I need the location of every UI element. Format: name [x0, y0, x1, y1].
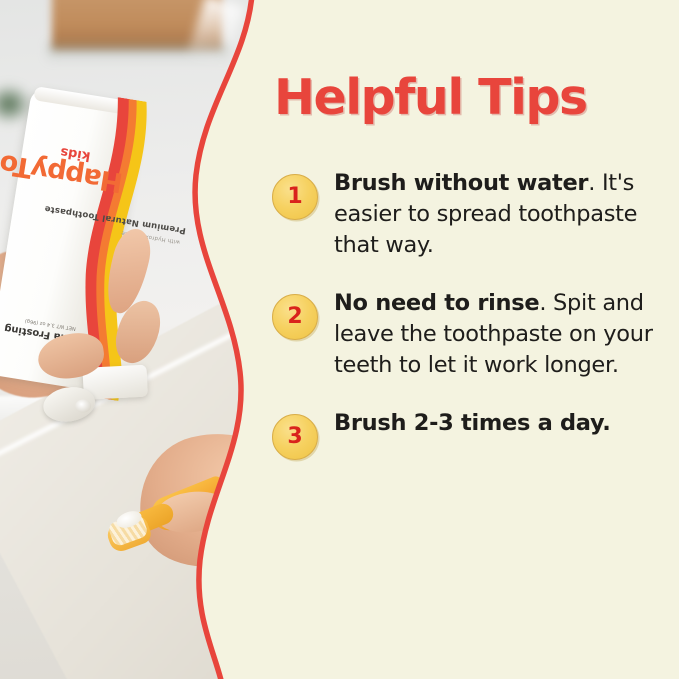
tips-panel: Helpful Tips 1 Brush without water. It's… — [272, 0, 672, 679]
tip-text-3: Brush 2-3 times a day. — [334, 405, 664, 439]
list-item: 2 No need to rinse. Spit and leave the t… — [272, 285, 664, 381]
list-item: 3 Brush 2-3 times a day. — [272, 405, 664, 460]
tip-number: 3 — [287, 426, 302, 449]
tip-number: 2 — [287, 306, 302, 329]
tip-badge-2: 2 — [272, 294, 318, 340]
tip-text-2: No need to rinse. Spit and leave the too… — [334, 285, 664, 381]
tip-number: 1 — [287, 186, 302, 209]
product-photo: HappyTooth kids Premium Natural Toothpas… — [0, 0, 300, 679]
tip-badge-3: 3 — [272, 414, 318, 460]
tip-bold-lead: Brush 2-3 times a day. — [334, 410, 611, 436]
tip-text-1: Brush without water. It's easier to spre… — [334, 165, 664, 261]
tip-bold-lead: Brush without water — [334, 170, 588, 196]
tip-badge-1: 1 — [272, 174, 318, 220]
infographic-root: HappyTooth kids Premium Natural Toothpas… — [0, 0, 679, 679]
tip-bold-lead: No need to rinse — [334, 290, 539, 316]
list-item: 1 Brush without water. It's easier to sp… — [272, 165, 664, 261]
tips-list: 1 Brush without water. It's easier to sp… — [272, 165, 664, 484]
page-title: Helpful Tips — [274, 69, 587, 126]
